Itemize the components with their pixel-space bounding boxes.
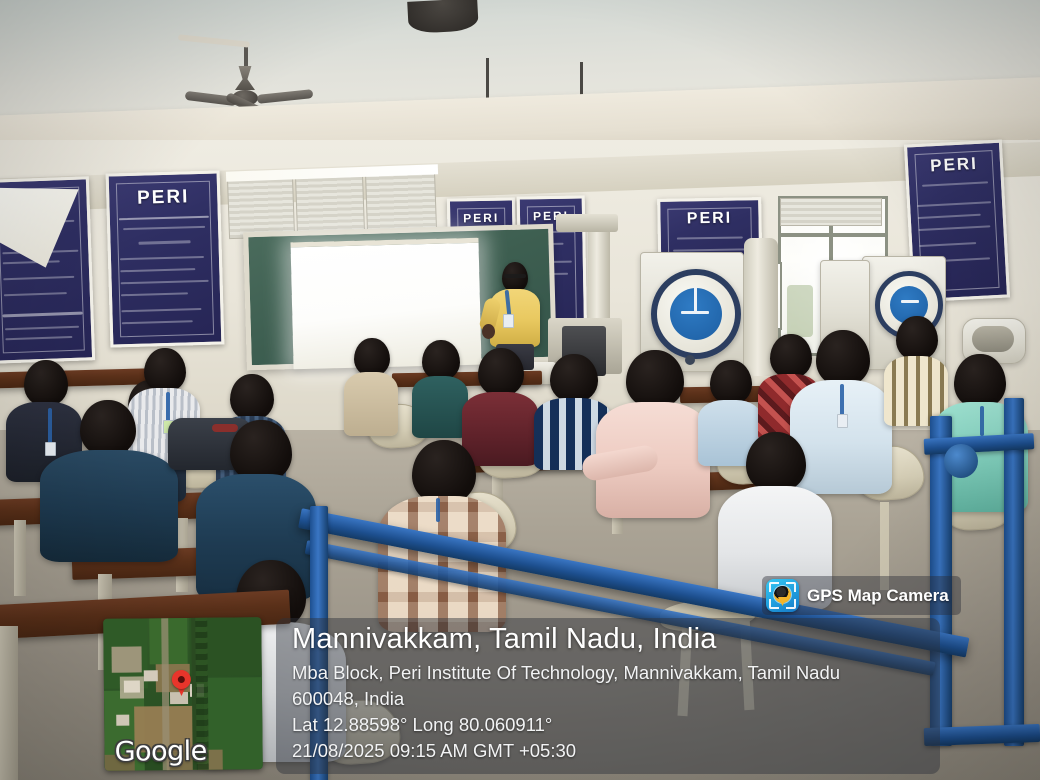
student-head — [816, 330, 870, 386]
gps-map-camera-badge[interactable]: GPS Map Camera — [762, 576, 961, 615]
poster-peri-2: PERI — [106, 170, 225, 347]
student-head — [710, 360, 752, 404]
desk-leg — [14, 520, 26, 596]
datetime: 21/08/2025 09:15 AM GMT +05:30 — [292, 740, 576, 762]
student-head — [478, 348, 524, 396]
map-pin-icon — [172, 670, 191, 696]
address-line-2: 600048, India — [292, 688, 404, 710]
student — [40, 400, 178, 560]
map-thumbnail[interactable]: Google — [103, 617, 263, 771]
gps-camera-icon — [766, 579, 799, 612]
presenter-hand — [482, 324, 495, 339]
window-blind-2 — [295, 173, 365, 235]
window-right-blind — [780, 198, 882, 226]
student-head — [230, 374, 274, 420]
poster-title: PERI — [109, 186, 218, 211]
student-head — [80, 400, 136, 456]
coordinates: Lat 12.88598° Long 80.060911° — [292, 714, 552, 736]
student-head — [412, 440, 476, 504]
poster-title: PERI — [660, 209, 758, 229]
equipment-roller — [944, 444, 978, 478]
gps-badge-label: GPS Map Camera — [807, 586, 949, 606]
student-torso — [412, 376, 468, 438]
desk-leg — [0, 626, 18, 780]
gps-info-panel: Mannivakkam, Tamil Nadu, India Mba Block… — [276, 618, 940, 774]
student-head — [954, 354, 1006, 408]
student-torso — [40, 450, 178, 562]
utm-crosshead — [556, 214, 618, 232]
address-line-1: Mba Block, Peri Institute Of Technology,… — [292, 662, 840, 684]
student — [412, 340, 468, 436]
student-head — [144, 348, 186, 392]
window-blind-3 — [365, 171, 437, 231]
presenter-glasses — [504, 274, 526, 278]
lab-equipment-roller — [972, 326, 1014, 352]
student — [596, 350, 710, 516]
student-head — [550, 354, 598, 402]
student — [344, 338, 398, 434]
poster-title: PERI — [450, 210, 512, 225]
google-watermark: Google — [114, 736, 207, 768]
student-head — [354, 338, 390, 376]
dial-gauge-1 — [651, 269, 741, 359]
student-head — [626, 350, 684, 408]
photo-canvas: PERI PERI PERI PERI — [0, 0, 1040, 780]
student-head — [230, 420, 292, 482]
location-title: Mannivakkam, Tamil Nadu, India — [292, 623, 717, 656]
ceiling-fan-left — [215, 42, 305, 114]
student-head — [746, 432, 806, 492]
student-head — [422, 340, 460, 380]
presenter-torso — [490, 289, 540, 347]
window-blind-1 — [227, 175, 295, 239]
student-torso — [344, 372, 398, 436]
